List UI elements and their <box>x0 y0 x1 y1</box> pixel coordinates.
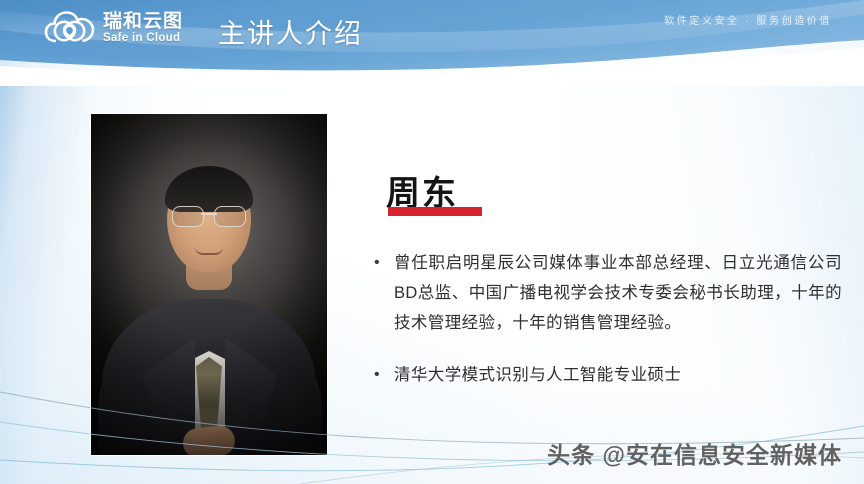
bullet-text: 清华大学模式识别与人工智能专业硕士 <box>394 360 842 390</box>
brand-name-cn: 瑞和云图 <box>103 12 183 31</box>
header-tagline: 软件定义安全 · 服务创造价值 <box>664 12 832 27</box>
speaker-name-underline <box>388 207 482 216</box>
speaker-bio-list: • 曾任职启明星辰公司媒体事业本部总经理、日立光通信公司BD总监、中国广播电视学… <box>374 248 842 412</box>
brand-logo: 瑞和云图 Safe in Cloud <box>44 7 183 49</box>
slide-header: 瑞和云图 Safe in Cloud 主讲人介绍 软件定义安全 · 服务创造价值 <box>0 0 864 86</box>
portrait-vignette <box>91 114 327 455</box>
list-item: • 清华大学模式识别与人工智能专业硕士 <box>374 360 842 390</box>
brand-text: 瑞和云图 Safe in Cloud <box>103 12 183 45</box>
bullet-marker-icon: • <box>374 360 394 390</box>
cloud-shield-logo-icon <box>44 8 96 48</box>
watermark-text: 头条 @安在信息安全新媒体 <box>547 436 842 470</box>
speaker-photo <box>91 114 327 455</box>
presentation-slide: 瑞和云图 Safe in Cloud 主讲人介绍 软件定义安全 · 服务创造价值 <box>0 0 864 484</box>
page-title: 主讲人介绍 <box>218 12 363 51</box>
bullet-text: 曾任职启明星辰公司媒体事业本部总经理、日立光通信公司BD总监、中国广播电视学会技… <box>394 248 842 338</box>
speaker-photo-frame <box>91 114 327 455</box>
bullet-marker-icon: • <box>374 248 394 278</box>
list-item: • 曾任职启明星辰公司媒体事业本部总经理、日立光通信公司BD总监、中国广播电视学… <box>374 248 842 338</box>
brand-name-en: Safe in Cloud <box>103 33 183 45</box>
